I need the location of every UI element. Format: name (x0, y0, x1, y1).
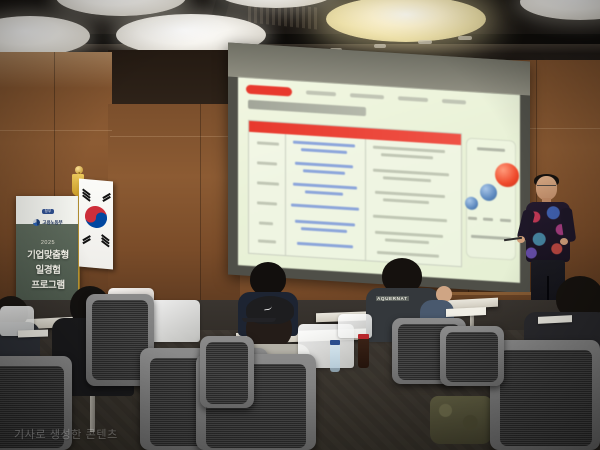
bottle-cap (358, 334, 369, 339)
glasses-icon (537, 185, 556, 190)
ceiling-beam (0, 34, 600, 44)
slide-table-cell (295, 162, 353, 169)
slide-table-cell (375, 231, 443, 238)
slide-table-cell (291, 203, 359, 210)
downlight (374, 44, 386, 48)
water-bottle (330, 344, 340, 372)
slide-table-cell (303, 169, 345, 175)
slide-title (248, 100, 366, 116)
wall-highlight (0, 52, 112, 88)
slide-table-col-divider (285, 134, 286, 255)
slide-diagram (466, 137, 516, 260)
slide-table-cell (297, 242, 353, 249)
downlight (458, 36, 472, 40)
korean-flag-icon (79, 179, 113, 270)
slide-table-header (249, 121, 461, 145)
banner-line-1: 기업맞춤형 (16, 248, 80, 263)
slide-table-cell (381, 153, 433, 159)
slide-sphere-medium (480, 183, 497, 201)
seminar-room-photo: 정부 고용노동부 2025 기업맞춤형 일경험 프로그램 (0, 0, 600, 450)
slide-table-cell (293, 183, 357, 190)
banner-year: 2025 (16, 240, 80, 246)
slide-table-cell (383, 198, 429, 204)
banner-line-3: 프로그램 (16, 278, 80, 293)
cola-bottle (358, 338, 369, 368)
taeguk-symbol (85, 205, 107, 229)
bottle-cap (330, 340, 340, 345)
ministry-emblem-icon (33, 219, 40, 226)
slide-nav-item (442, 99, 466, 105)
cap-brim (242, 318, 276, 322)
slide-table (248, 120, 462, 267)
wall-seam (110, 136, 244, 137)
slide-table-cell (258, 239, 276, 243)
slide-nav-item (350, 93, 384, 99)
slide-table-cell (373, 169, 449, 177)
ministry-logo: 정부 고용노동부 (16, 199, 80, 226)
slide-sphere-label (483, 218, 493, 222)
presenter-right-hand (560, 238, 568, 245)
camo-backpack (430, 396, 492, 444)
slide-table-col-divider (365, 139, 366, 260)
slide-nav-active-tab (246, 84, 292, 96)
presentation-slide (238, 77, 520, 283)
slide-table-cell (301, 148, 347, 154)
slide-table-cell (383, 176, 431, 182)
banner-line-2: 일경험 (16, 263, 80, 278)
slide-table-cell (375, 191, 445, 198)
slide-table-cell (293, 141, 355, 148)
downlight (418, 40, 432, 44)
projection-screen (228, 42, 530, 293)
slide-sphere-small (465, 196, 478, 210)
slide-table-cell (305, 190, 343, 195)
slide-table-cell (385, 238, 429, 244)
slide-table-cell (259, 221, 273, 225)
document-paper (18, 329, 48, 337)
shirt-print-text: AQUERNAT (376, 296, 409, 301)
watermark: 기사로 생성한 콘텐츠 (14, 426, 118, 442)
chair-mesh (206, 342, 248, 404)
slide-sphere-label (468, 217, 477, 221)
slide-table-cell (301, 227, 347, 233)
slide-table-cell (257, 141, 279, 145)
chair-mesh (500, 350, 592, 446)
slide-table-cell (257, 161, 277, 165)
slide-table-cell (373, 215, 447, 223)
wall-seam (0, 130, 112, 131)
attendee-head (250, 262, 286, 296)
ministry-name: 고용노동부 (42, 220, 62, 226)
chair-mesh (446, 332, 498, 382)
logo-badge: 정부 (42, 209, 55, 214)
logo-row: 고용노동부 (16, 219, 80, 226)
slide-table-cell (373, 146, 445, 154)
slide-sphere-large (495, 162, 519, 188)
slide-table-cell (257, 201, 277, 205)
slide-table-cell (257, 181, 279, 185)
slide-table-cell (295, 220, 355, 227)
slide-nav-item (306, 90, 336, 96)
slide-table-cell (377, 251, 439, 258)
slide-sphere-label (500, 219, 511, 223)
wall-panel-divider (200, 104, 201, 312)
banner-title: 기업맞춤형 일경험 프로그램 (16, 248, 80, 293)
program-banner: 정부 고용노동부 2025 기업맞춤형 일경험 프로그램 (16, 196, 80, 312)
slide-nav-item (398, 96, 428, 102)
slide-diagram-heading (477, 147, 505, 152)
plastic-bag (148, 300, 200, 342)
